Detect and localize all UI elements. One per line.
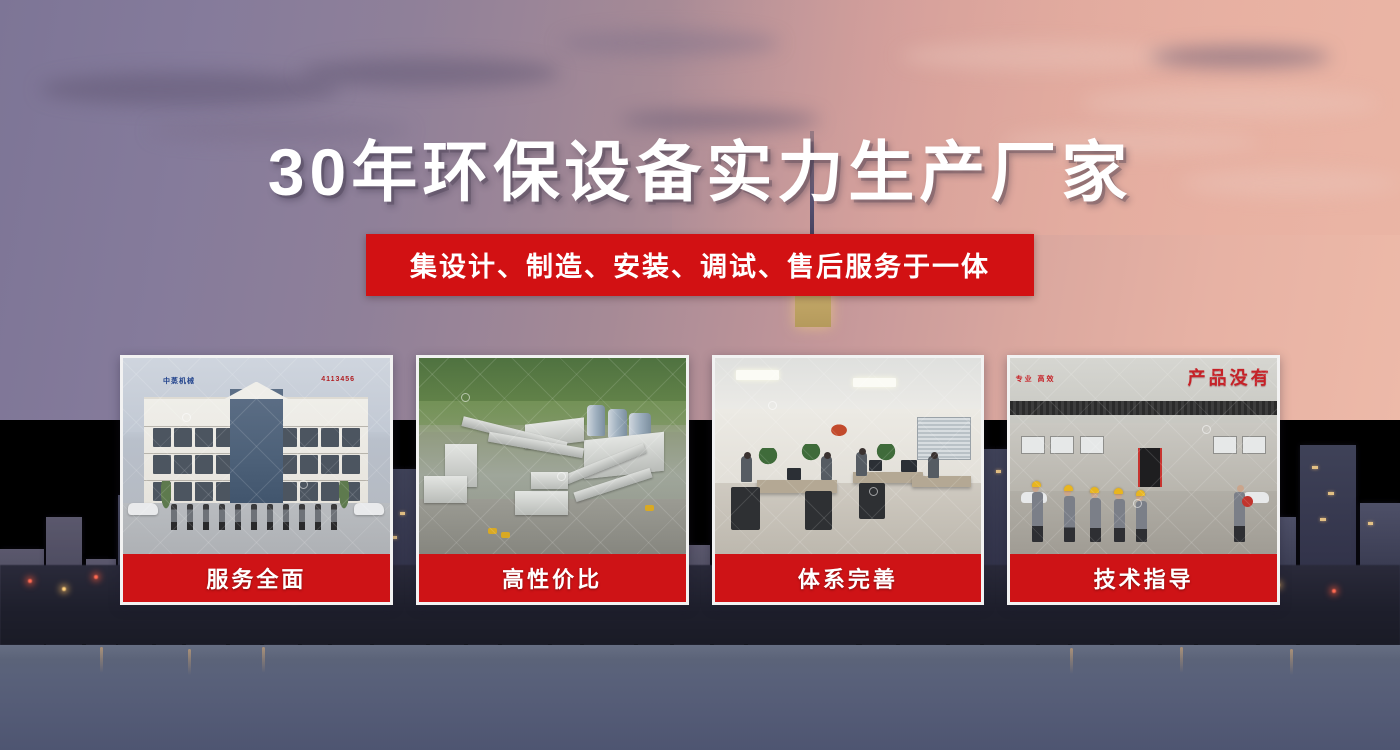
water-reflection xyxy=(1180,647,1183,673)
building-phone-number: 4113456 xyxy=(321,376,355,383)
ceiling xyxy=(715,358,982,413)
river-water xyxy=(0,645,1400,750)
staff-person xyxy=(235,504,241,530)
watermark-badge xyxy=(182,413,191,422)
card-photo-office-interior xyxy=(715,358,982,554)
window-light xyxy=(1368,522,1373,525)
staff-person xyxy=(187,504,193,530)
headline-text: 30年环保设备实力生产厂家 xyxy=(0,138,1400,207)
feature-card-value[interactable]: 高性价比 xyxy=(416,355,689,605)
water-reflection xyxy=(188,649,191,675)
staff-person xyxy=(299,504,305,530)
factory-window xyxy=(1080,436,1104,454)
employee-head xyxy=(931,452,938,459)
card-caption-service: 服务全面 xyxy=(123,554,390,602)
factory-window xyxy=(1050,436,1074,454)
hard-hat-icon xyxy=(1064,485,1073,491)
parked-car xyxy=(128,503,158,515)
silo xyxy=(608,409,627,438)
cloud xyxy=(900,42,1180,70)
factory-slogan-small-text: 专业 高效 xyxy=(1016,374,1056,384)
staff-person xyxy=(251,504,257,530)
staff-person xyxy=(315,504,321,530)
feature-card-system[interactable]: 体系完善 xyxy=(712,355,985,605)
factory-door xyxy=(1138,448,1162,487)
window-light xyxy=(1328,492,1334,495)
card-caption-guidance: 技术指导 xyxy=(1010,554,1277,602)
hard-hat-icon xyxy=(1136,490,1145,496)
staff-person xyxy=(267,504,273,530)
worker xyxy=(1114,499,1125,542)
cloud xyxy=(1080,88,1380,118)
employee-head xyxy=(824,452,831,459)
photo-office-building: 中蒸机械 4113456 xyxy=(123,358,390,554)
ceiling-light xyxy=(853,378,896,388)
factory-slogan-text: 产品没有 xyxy=(1188,364,1272,390)
hard-hat-icon xyxy=(1032,481,1041,487)
staff-person xyxy=(331,504,337,530)
loader-vehicle xyxy=(488,528,497,534)
shore-light xyxy=(94,575,98,579)
monitor xyxy=(901,460,917,472)
watermark-badge xyxy=(1202,425,1211,434)
laptop xyxy=(787,468,801,480)
employee xyxy=(856,452,867,476)
window-light xyxy=(1312,466,1318,469)
feature-card-row: 中蒸机械 4113456 xyxy=(120,355,1280,605)
watermark-badge xyxy=(299,480,308,489)
employee-head xyxy=(744,452,751,459)
parked-car xyxy=(354,503,384,515)
water-reflection xyxy=(1070,648,1073,674)
shore-light xyxy=(62,587,66,591)
feature-card-service[interactable]: 中蒸机械 4113456 xyxy=(120,355,393,605)
wall-logo xyxy=(821,417,857,439)
cloud xyxy=(300,58,560,88)
building-sign-text: 中蒸机械 xyxy=(163,376,195,386)
watermark-badge xyxy=(1133,499,1142,508)
shore-light xyxy=(28,579,32,583)
employee xyxy=(928,456,939,478)
red-helmet-held xyxy=(1242,496,1253,507)
hard-hat-icon xyxy=(1114,488,1123,494)
employee xyxy=(741,456,752,482)
desk xyxy=(912,476,971,488)
staff-person xyxy=(203,504,209,530)
staff-person xyxy=(219,504,225,530)
promotional-banner: 30年环保设备实力生产厂家 集设计、制造、安装、调试、售后服务于一体 xyxy=(0,0,1400,750)
facade-louvers xyxy=(1010,401,1277,415)
staff-person xyxy=(171,504,177,530)
cloud xyxy=(620,110,820,130)
water-highlight xyxy=(0,645,1400,659)
ceiling-light xyxy=(736,370,779,380)
loader-vehicle xyxy=(645,505,654,511)
watermark-badge xyxy=(768,401,777,410)
card-photo-industrial-plant xyxy=(419,358,686,554)
silo xyxy=(587,405,606,436)
window-blinds xyxy=(917,417,970,460)
card-caption-system: 体系完善 xyxy=(715,554,982,602)
photo-office-interior xyxy=(715,358,982,554)
cloud xyxy=(560,30,780,56)
office-chair xyxy=(731,487,760,530)
factory-window xyxy=(1242,436,1266,454)
monitor xyxy=(869,460,882,471)
cloud xyxy=(1150,46,1330,68)
staff-person xyxy=(283,504,289,530)
building-glass-atrium xyxy=(230,389,283,511)
loader-vehicle xyxy=(501,532,510,538)
window-light xyxy=(1320,518,1326,521)
potted-plant xyxy=(800,444,822,462)
factory-window xyxy=(1021,436,1045,454)
water-reflection xyxy=(1290,649,1293,675)
card-photo-factory-workers: 产品没有 专业 高效 xyxy=(1010,358,1277,554)
photo-factory-workers: 产品没有 专业 高效 xyxy=(1010,358,1277,554)
water-reflection xyxy=(262,647,265,673)
employee-head xyxy=(859,448,866,455)
card-photo-office-building: 中蒸机械 4113456 xyxy=(123,358,390,554)
feature-card-guidance[interactable]: 产品没有 专业 高效 xyxy=(1007,355,1280,605)
card-caption-value: 高性价比 xyxy=(419,554,686,602)
tree xyxy=(338,481,350,511)
plant-building xyxy=(424,476,467,503)
cloud xyxy=(40,72,340,106)
office-chair xyxy=(805,491,832,530)
factory-window xyxy=(1213,436,1237,454)
hard-hat-icon xyxy=(1090,487,1099,493)
shore-light xyxy=(1332,589,1336,593)
worker xyxy=(1090,498,1101,542)
subtitle-banner: 集设计、制造、安装、调试、售后服务于一体 xyxy=(366,234,1034,296)
worker xyxy=(1032,492,1043,542)
plant-shed xyxy=(515,491,568,515)
worker xyxy=(1064,496,1075,542)
water-reflection xyxy=(100,647,103,673)
photo-aerial-plant xyxy=(419,358,686,554)
subtitle-banner-wrap: 集设计、制造、安装、调试、售后服务于一体 xyxy=(0,234,1400,296)
employee xyxy=(821,456,832,480)
potted-plant xyxy=(757,448,779,466)
